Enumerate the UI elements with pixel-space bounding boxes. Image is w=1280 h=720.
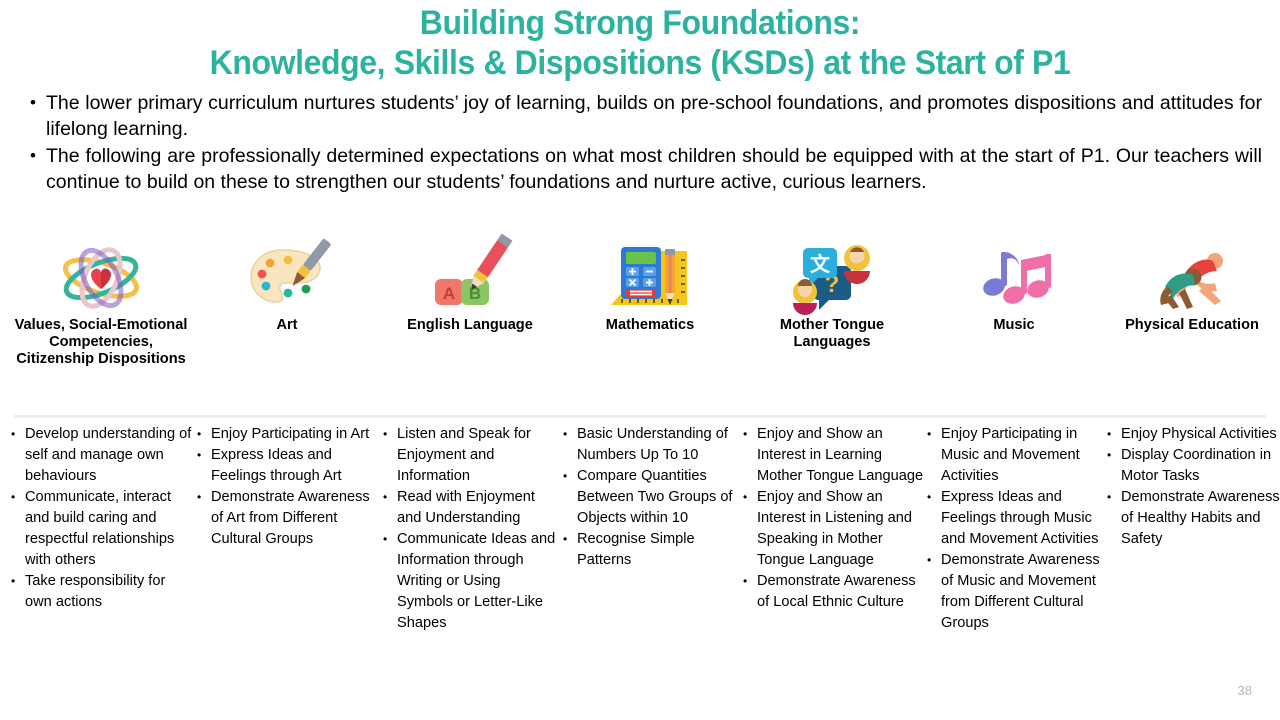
subject-title: Music: [993, 317, 1034, 334]
subject-column-mathematics: Mathematics: [560, 243, 740, 415]
list-item: • Communicate, interact and build caring…: [8, 487, 194, 571]
subject-title: English Language: [407, 317, 533, 334]
bullet-glyph-icon: •: [194, 424, 211, 445]
speech-bubbles-translate-icon: ? 文: [789, 243, 875, 313]
page-title-line-1: Building Strong Foundations:: [38, 4, 1241, 44]
list-item: • Communicate Ideas and Information thro…: [380, 529, 560, 634]
subject-title: Physical Education: [1125, 317, 1259, 334]
page-title: Building Strong Foundations: Knowledge, …: [38, 0, 1241, 84]
bullet-glyph-icon: •: [194, 445, 211, 466]
list-item-text: Recognise Simple Patterns: [577, 529, 740, 571]
list-item: • Demonstrate Awareness of Art from Diff…: [194, 487, 380, 550]
subject-title: Values, Social-Emotional Competencies, C…: [10, 317, 192, 368]
list-item: • Demonstrate Awareness of Local Ethnic …: [740, 571, 924, 613]
detail-list-values: • Develop understanding of self and mana…: [8, 421, 194, 613]
bullet-glyph-icon: •: [1104, 445, 1121, 466]
bullet-glyph-icon: •: [560, 466, 577, 487]
slide: Building Strong Foundations: Knowledge, …: [0, 0, 1280, 720]
svg-text:文: 文: [810, 252, 831, 276]
bullet-glyph-icon: •: [1104, 487, 1121, 508]
list-item-text: Demonstrate Awareness of Healthy Habits …: [1121, 487, 1280, 550]
list-item-text: Enjoy Participating in Music and Movemen…: [941, 424, 1104, 487]
list-item-text: Enjoy Participating in Art: [211, 424, 380, 445]
list-item: • Enjoy Participating in Music and Movem…: [924, 424, 1104, 487]
list-item-text: Enjoy and Show an Interest in Listening …: [757, 487, 924, 571]
bullet-glyph-icon: •: [924, 487, 941, 508]
subject-column-values: Values, Social-Emotional Competencies, C…: [8, 243, 194, 415]
atom-heart-icon: [59, 243, 143, 313]
list-item: • Express Ideas and Feelings through Mus…: [924, 487, 1104, 550]
list-item-text: Demonstrate Awareness of Art from Differ…: [211, 487, 380, 550]
bullet-glyph-icon: •: [20, 143, 46, 169]
detail-list-physical-education: • Enjoy Physical Activities • Display Co…: [1104, 421, 1280, 550]
bullet-glyph-icon: •: [8, 424, 25, 445]
subject-column-music: Music: [924, 243, 1104, 415]
intro-bullet-text: The lower primary curriculum nurtures st…: [46, 90, 1262, 142]
list-item: • Read with Enjoyment and Understanding: [380, 487, 560, 529]
bullet-glyph-icon: •: [1104, 424, 1121, 445]
bullet-glyph-icon: •: [20, 90, 46, 116]
calculator-ruler-pencil-icon: [607, 243, 693, 313]
subject-header-row: Values, Social-Emotional Competencies, C…: [0, 243, 1280, 415]
svg-text:A: A: [443, 284, 455, 303]
subject-column-physical-education: Physical Education: [1104, 243, 1280, 415]
subject-title: Mother Tongue Languages: [742, 317, 922, 351]
bullet-glyph-icon: •: [740, 424, 757, 445]
list-item-text: Compare Quantities Between Two Groups of…: [577, 466, 740, 529]
bullet-glyph-icon: •: [8, 571, 25, 592]
list-item-text: Listen and Speak for Enjoyment and Infor…: [397, 424, 560, 487]
detail-list-music: • Enjoy Participating in Music and Movem…: [924, 421, 1104, 634]
list-item: • Recognise Simple Patterns: [560, 529, 740, 571]
list-item-text: Read with Enjoyment and Understanding: [397, 487, 560, 529]
list-item: • Take responsibility for own actions: [8, 571, 194, 613]
list-item-text: Develop understanding of self and manage…: [25, 424, 194, 487]
bullet-glyph-icon: •: [924, 424, 941, 445]
section-divider: [14, 415, 1266, 418]
artist-palette-icon: [248, 243, 326, 313]
bullet-glyph-icon: •: [380, 424, 397, 445]
list-item: • Demonstrate Awareness of Healthy Habit…: [1104, 487, 1280, 550]
music-notes-icon: [975, 243, 1053, 313]
bullet-glyph-icon: •: [380, 487, 397, 508]
bullet-glyph-icon: •: [560, 424, 577, 445]
bullet-glyph-icon: •: [740, 571, 757, 592]
list-item-text: Basic Understanding of Numbers Up To 10: [577, 424, 740, 466]
subject-column-art: Art: [194, 243, 380, 415]
detail-list-english: • Listen and Speak for Enjoyment and Inf…: [380, 421, 560, 634]
list-item: • Compare Quantities Between Two Groups …: [560, 466, 740, 529]
list-item: • Enjoy Participating in Art: [194, 424, 380, 445]
subject-title: Mathematics: [606, 317, 694, 334]
list-item: • Enjoy and Show an Interest in Listenin…: [740, 487, 924, 571]
wrestling-figures-icon: [1149, 243, 1235, 313]
list-item-text: Communicate, interact and build caring a…: [25, 487, 194, 571]
bullet-glyph-icon: •: [560, 529, 577, 550]
list-item: • Enjoy Physical Activities: [1104, 424, 1280, 445]
bullet-glyph-icon: •: [8, 487, 25, 508]
list-item-text: Express Ideas and Feelings through Music…: [941, 487, 1104, 550]
intro-bullet-item: • The following are professionally deter…: [20, 143, 1262, 195]
intro-bullet-text: The following are professionally determi…: [46, 143, 1262, 195]
bullet-glyph-icon: •: [194, 487, 211, 508]
detail-list-mathematics: • Basic Understanding of Numbers Up To 1…: [560, 421, 740, 571]
list-item: • Display Coordination in Motor Tasks: [1104, 445, 1280, 487]
list-item: • Basic Understanding of Numbers Up To 1…: [560, 424, 740, 466]
list-item-text: Demonstrate Awareness of Local Ethnic Cu…: [757, 571, 924, 613]
list-item-text: Enjoy and Show an Interest in Learning M…: [757, 424, 924, 487]
list-item: • Enjoy and Show an Interest in Learning…: [740, 424, 924, 487]
list-item-text: Display Coordination in Motor Tasks: [1121, 445, 1280, 487]
detail-list-art: • Enjoy Participating in Art • Express I…: [194, 421, 380, 550]
intro-bullet-item: • The lower primary curriculum nurtures …: [20, 90, 1262, 142]
intro-bullet-list: • The lower primary curriculum nurtures …: [20, 90, 1262, 196]
list-item: • Express Ideas and Feelings through Art: [194, 445, 380, 487]
list-item-text: Express Ideas and Feelings through Art: [211, 445, 380, 487]
subject-title: Art: [276, 317, 297, 334]
list-item-text: Enjoy Physical Activities: [1121, 424, 1280, 445]
subject-column-english: A B English Language: [380, 243, 560, 415]
bullet-glyph-icon: •: [740, 487, 757, 508]
bullet-glyph-icon: •: [380, 529, 397, 550]
list-item-text: Demonstrate Awareness of Music and Movem…: [941, 550, 1104, 634]
list-item-text: Communicate Ideas and Information throug…: [397, 529, 560, 634]
subject-detail-row: • Develop understanding of self and mana…: [0, 421, 1280, 634]
page-title-line-2: Knowledge, Skills & Dispositions (KSDs) …: [38, 44, 1241, 84]
bullet-glyph-icon: •: [924, 550, 941, 571]
list-item-text: Take responsibility for own actions: [25, 571, 194, 613]
subject-column-mother-tongue: ? 文: [740, 243, 924, 415]
detail-list-mother-tongue: • Enjoy and Show an Interest in Learning…: [740, 421, 924, 613]
page-number: 38: [1238, 683, 1252, 698]
list-item: • Listen and Speak for Enjoyment and Inf…: [380, 424, 560, 487]
abc-blocks-pencil-icon: A B: [429, 243, 511, 313]
list-item: • Develop understanding of self and mana…: [8, 424, 194, 487]
list-item: • Demonstrate Awareness of Music and Mov…: [924, 550, 1104, 634]
